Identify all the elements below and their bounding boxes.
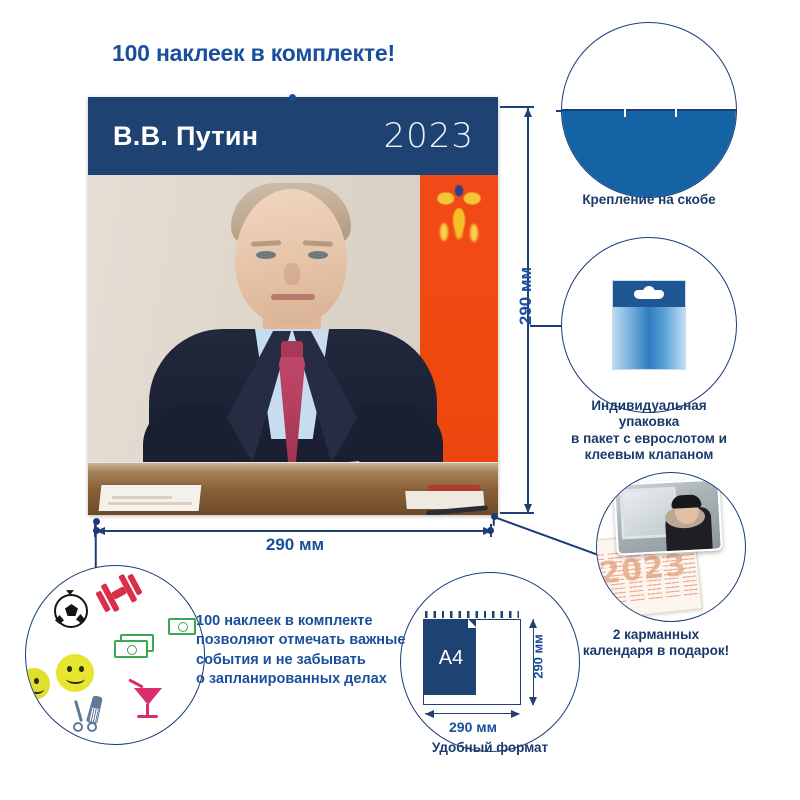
mouth [271, 294, 315, 300]
desk-paper-line-1 [108, 502, 192, 505]
connector-a4-stub [493, 517, 495, 526]
a4-perforation-dots [425, 611, 519, 618]
package-header-strip [613, 281, 685, 307]
money-icon [168, 618, 198, 638]
a4-height-arrow-down [529, 697, 537, 706]
feature-circle-pocket-calendars: 2023 [596, 472, 746, 622]
eye-left [256, 251, 276, 259]
height-dimension-label: 290 мм [516, 236, 536, 356]
staple-blue-half [562, 110, 736, 197]
cap-hat-icon [671, 494, 702, 509]
caption-line: упаковка [530, 414, 768, 430]
description-line: события и не забывать [196, 651, 426, 670]
staple-icon [624, 106, 626, 117]
page-title: 100 наклеек в комплекте! [112, 40, 532, 67]
feature-circle-format: A4 290 мм 290 мм [400, 572, 580, 752]
tie-knot [281, 341, 303, 357]
smiley-icon [56, 654, 94, 692]
calendar-title: В.В. Путин [113, 121, 258, 152]
description-line: о запланированных делах [196, 670, 426, 689]
feature-circle-stickers [25, 565, 205, 745]
calendar-mockup: В.В. Путин 2023 [88, 97, 498, 515]
stickers-description: 100 наклеек в комплекте позволяют отмеча… [196, 612, 426, 689]
calendar-year: 2023 [383, 116, 474, 156]
caption-line: 2 карманных [556, 627, 756, 643]
smiley-icon [25, 668, 50, 700]
soccer-ball-icon [54, 594, 88, 628]
desk-paper-line-2 [112, 496, 172, 499]
description-line: 100 наклеек в комплекте [196, 612, 426, 631]
feature-caption-staple: Крепление на скобе [548, 192, 750, 208]
caption-line: клеевым клапаном [530, 447, 768, 463]
a4-width-label: 290 мм [423, 719, 523, 735]
connector-dot-width-left [93, 527, 100, 534]
caption-line: календаря в подарок! [556, 643, 756, 659]
a4-height-label: 290 мм [531, 624, 546, 690]
calendar-column [679, 545, 698, 598]
desk-surface [88, 463, 498, 515]
feature-caption-pocket-calendars: 2 карманных календаря в подарок! [556, 627, 756, 660]
a4-sheet-icon: A4 290 мм 290 мм [423, 609, 543, 707]
feature-caption-packaging: Индивидуальная упаковка в пакет с евросл… [530, 398, 768, 464]
money-icon [114, 634, 154, 660]
nose [284, 263, 300, 285]
a4-width-line [425, 713, 519, 714]
head [235, 189, 347, 325]
cocktail-icon [130, 682, 164, 720]
package-bag-icon [612, 280, 686, 370]
staple-icon [675, 106, 677, 117]
connector-pocket-calendars [494, 516, 611, 560]
a4-label: A4 [429, 647, 473, 670]
infographic-canvas: 100 наклеек в комплекте! В.В. Путин 2023 [0, 0, 800, 800]
calendar-header-band: В.В. Путин 2023 [88, 97, 498, 175]
height-arrow-down [524, 504, 532, 513]
staple-fold-line [562, 109, 736, 110]
feature-caption-format: Удобный формат [400, 740, 580, 756]
caption-line: в пакет с еврослотом и [530, 431, 768, 447]
calendar-photo [88, 175, 498, 515]
width-dimension-line [96, 530, 492, 532]
pocket-calendar-photo [613, 478, 723, 555]
eye-right [308, 251, 328, 259]
connector-dot-width-right [487, 527, 494, 534]
dumbbell-icon [92, 568, 145, 618]
caption-line: Индивидуальная [530, 398, 768, 414]
height-arrow-up [524, 108, 532, 117]
euroslot-hole-icon [634, 290, 664, 299]
a4-width-arrow-right [511, 710, 520, 718]
connector-dot-corner-bl [93, 518, 100, 525]
calendar-staple-dot [289, 94, 296, 101]
feature-circle-staple [561, 22, 737, 198]
description-line: позволяют отмечать важные [196, 631, 426, 650]
width-dimension-label: 290 мм [210, 535, 380, 555]
a4-width-arrow-left [425, 710, 434, 718]
feature-circle-packaging [561, 237, 737, 413]
pocket-photo-figure [654, 491, 713, 552]
